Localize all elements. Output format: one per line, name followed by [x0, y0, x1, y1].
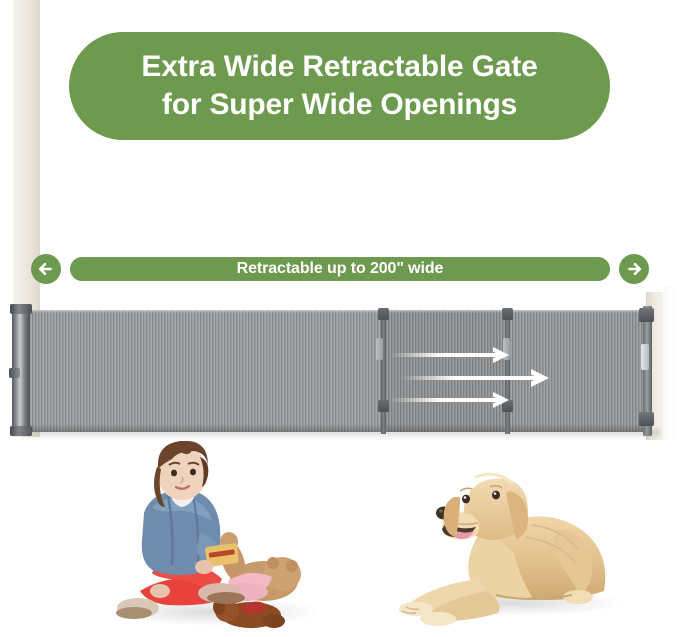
motion-arrow-middle [400, 368, 555, 388]
retractable-gate [0, 300, 679, 445]
seam-post-1-tab-bottom [378, 400, 389, 412]
seam-post-1-latch [376, 338, 383, 360]
toddler [116, 441, 245, 619]
motion-arrow-bottom [390, 390, 515, 410]
right-end-bracket-top [639, 308, 654, 322]
mesh-top-highlight [22, 310, 646, 313]
retracted-mesh-panel [22, 310, 384, 432]
toddler-with-teddy-bears [96, 441, 321, 633]
width-callout-row: Retractable up to 200" wide [30, 252, 650, 286]
product-marketing-image: Extra Wide Retractable Gate for Super Wi… [0, 0, 679, 637]
seam-post-1-tab-top [378, 308, 389, 320]
motion-arrow-top [390, 345, 515, 365]
headline-line-1: Extra Wide Retractable Gate [141, 48, 537, 86]
cassette-clip [9, 368, 20, 378]
width-pill-label: Retractable up to 200" wide [237, 261, 444, 277]
seam-post-1 [381, 308, 386, 434]
right-end-latch [641, 344, 649, 370]
headline-banner: Extra Wide Retractable Gate for Super Wi… [69, 32, 610, 140]
golden-retriever-dog [392, 461, 640, 633]
right-end-bracket-bottom [639, 412, 654, 426]
seam-post-2-tab-top [502, 308, 513, 320]
width-pill: Retractable up to 200" wide [70, 257, 610, 281]
cassette-cap-top [10, 304, 32, 314]
lifestyle-photo-row [0, 440, 679, 637]
headline-line-2: for Super Wide Openings [162, 86, 517, 124]
arrow-left-circle-icon [30, 253, 62, 285]
arrow-right-circle-icon [618, 253, 650, 285]
gate-floor-shadow [20, 430, 660, 439]
